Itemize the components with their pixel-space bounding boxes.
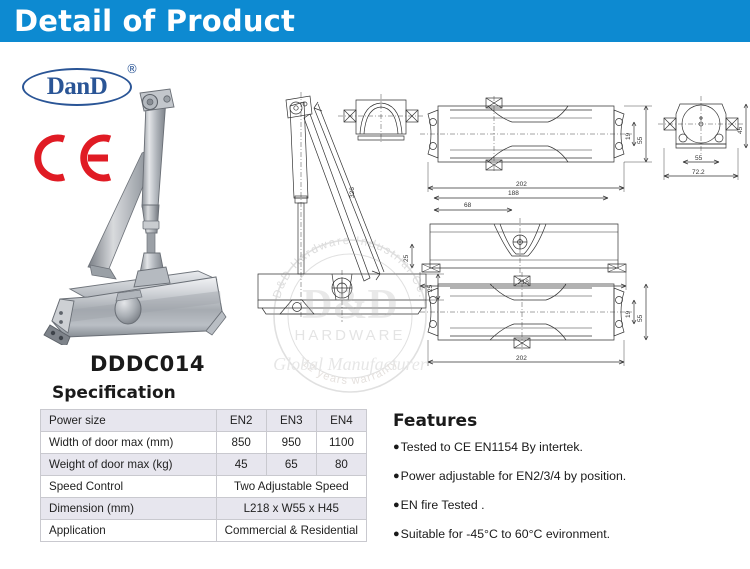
svg-text:55: 55 — [695, 155, 703, 162]
svg-text:326: 326 — [349, 187, 356, 198]
product-photo — [30, 75, 265, 345]
svg-text:55: 55 — [637, 314, 644, 322]
feature-text: Suitable for -45°C to 60°C evironment. — [401, 527, 610, 541]
specification-table: Power size EN2 EN3 EN4 Width of door max… — [40, 409, 367, 542]
spec-value: 950 — [266, 432, 316, 454]
feature-text: Tested to CE EN1154 By intertek. — [401, 440, 583, 454]
table-row: Weight of door max (kg) 45 65 80 — [41, 454, 367, 476]
list-item: ● Suitable for -45°C to 60°C evironment. — [393, 527, 743, 541]
product-model-name: DDDC014 — [30, 352, 265, 376]
spec-label: Weight of door max (kg) — [41, 454, 217, 476]
svg-text:188: 188 — [508, 190, 519, 197]
technical-drawings: 326 — [252, 78, 748, 378]
features-heading: Features — [393, 411, 477, 431]
spec-value: Commercial & Residential — [216, 520, 366, 542]
bullet-icon: ● — [393, 498, 400, 512]
svg-text:202: 202 — [516, 181, 527, 188]
spec-value: 65 — [266, 454, 316, 476]
spec-label: Dimension (mm) — [41, 498, 217, 520]
features-list: ● Tested to CE EN1154 By intertek. ● Pow… — [393, 440, 743, 556]
svg-text:19: 19 — [625, 132, 632, 140]
bullet-icon: ● — [393, 469, 400, 483]
spec-label: Application — [41, 520, 217, 542]
table-row: Dimension (mm) L218 x W55 x H45 — [41, 498, 367, 520]
list-item: ● Power adjustable for EN2/3/4 by positi… — [393, 469, 743, 483]
spec-label: Power size — [41, 410, 217, 432]
svg-text:25: 25 — [403, 254, 410, 262]
feature-text: Power adjustable for EN2/3/4 by position… — [401, 469, 627, 483]
spec-label: Speed Control — [41, 476, 217, 498]
feature-text: EN fire Tested . — [401, 498, 485, 512]
spec-label: Width of door max (mm) — [41, 432, 217, 454]
spec-value: 850 — [216, 432, 266, 454]
list-item: ● Tested to CE EN1154 By intertek. — [393, 440, 743, 454]
svg-text:55: 55 — [637, 136, 644, 144]
spec-value: 45 — [216, 454, 266, 476]
list-item: ● EN fire Tested . — [393, 498, 743, 512]
spec-value: Two Adjustable Speed — [216, 476, 366, 498]
bullet-icon: ● — [393, 440, 400, 454]
svg-text:45: 45 — [737, 126, 744, 134]
svg-text:19: 19 — [625, 310, 632, 318]
spec-value: 80 — [316, 454, 366, 476]
svg-text:202: 202 — [516, 355, 527, 362]
table-row: Power size EN2 EN3 EN4 — [41, 410, 367, 432]
registered-trademark-icon: ® — [126, 62, 138, 76]
page-title: Detail of Product — [14, 4, 295, 38]
table-row: Width of door max (mm) 850 950 1100 — [41, 432, 367, 454]
svg-text:72.2: 72.2 — [692, 169, 705, 176]
bullet-icon: ● — [393, 527, 400, 541]
product-detail-page: Detail of Product DanD ® — [0, 0, 750, 569]
table-row: Application Commercial & Residential — [41, 520, 367, 542]
spec-value: EN3 — [266, 410, 316, 432]
specification-heading: Specification — [52, 383, 176, 403]
spec-value: EN4 — [316, 410, 366, 432]
table-row: Speed Control Two Adjustable Speed — [41, 476, 367, 498]
spec-value: 1100 — [316, 432, 366, 454]
spec-value: L218 x W55 x H45 — [216, 498, 366, 520]
spec-value: EN2 — [216, 410, 266, 432]
svg-text:68: 68 — [464, 202, 472, 209]
